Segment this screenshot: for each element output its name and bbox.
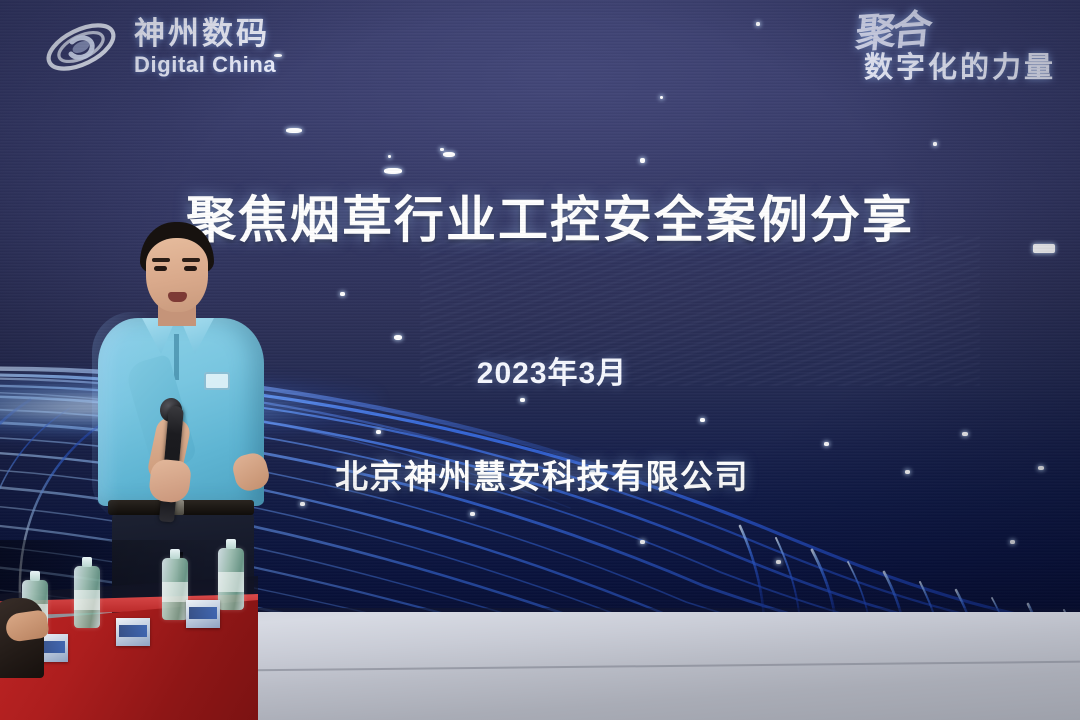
- conference-stage-photo: 神州数码 Digital China 聚合 数字化的力量 聚焦烟草行业工控安全案…: [0, 0, 1080, 720]
- particle-dot: [640, 158, 645, 163]
- event-logo-calligraphy: 聚合: [854, 12, 930, 53]
- brand-name-en: Digital China: [134, 54, 276, 76]
- water-bottle: [74, 566, 100, 628]
- particle-dot: [443, 152, 455, 157]
- particle-dot: [962, 432, 968, 436]
- particle-dot: [286, 128, 302, 133]
- speaker-eyebrow-left: [152, 258, 170, 262]
- particle-dot: [340, 292, 345, 296]
- particle-dot: [394, 335, 402, 340]
- particle-dot: [756, 22, 760, 26]
- name-card-band: [189, 607, 217, 619]
- particle-dot: [384, 168, 402, 174]
- particle-dot: [933, 142, 937, 146]
- digital-china-swirl-icon: [42, 16, 120, 78]
- particle-dot: [776, 560, 781, 564]
- water-bottle: [218, 548, 244, 610]
- name-card-band: [119, 625, 147, 637]
- particle-dot: [440, 148, 444, 151]
- speaker-eye-left: [154, 266, 167, 271]
- digital-china-logo: 神州数码 Digital China: [42, 16, 276, 78]
- particle-dot: [824, 442, 829, 446]
- event-logo: 聚合 数字化的力量: [856, 14, 1056, 86]
- brand-name-cn: 神州数码: [134, 18, 276, 49]
- particle-dot: [660, 96, 663, 99]
- speaker-shirt-placket: [174, 334, 179, 380]
- particle-dot: [470, 512, 475, 516]
- particle-dot: [1010, 540, 1015, 544]
- water-bottle: [162, 558, 188, 620]
- name-card: [116, 618, 150, 646]
- particle-dot: [300, 502, 305, 506]
- speaker-eyebrow-right: [182, 258, 200, 262]
- particle-dot: [640, 540, 645, 544]
- particle-dot: [700, 418, 705, 422]
- particle-dot: [388, 155, 391, 158]
- particle-dot: [376, 430, 381, 434]
- speaker-shirt-logo: [204, 372, 230, 390]
- particle-dot: [520, 398, 525, 402]
- name-card: [186, 600, 220, 628]
- speaker-mouth: [168, 292, 187, 302]
- speaker-eye-right: [184, 266, 197, 271]
